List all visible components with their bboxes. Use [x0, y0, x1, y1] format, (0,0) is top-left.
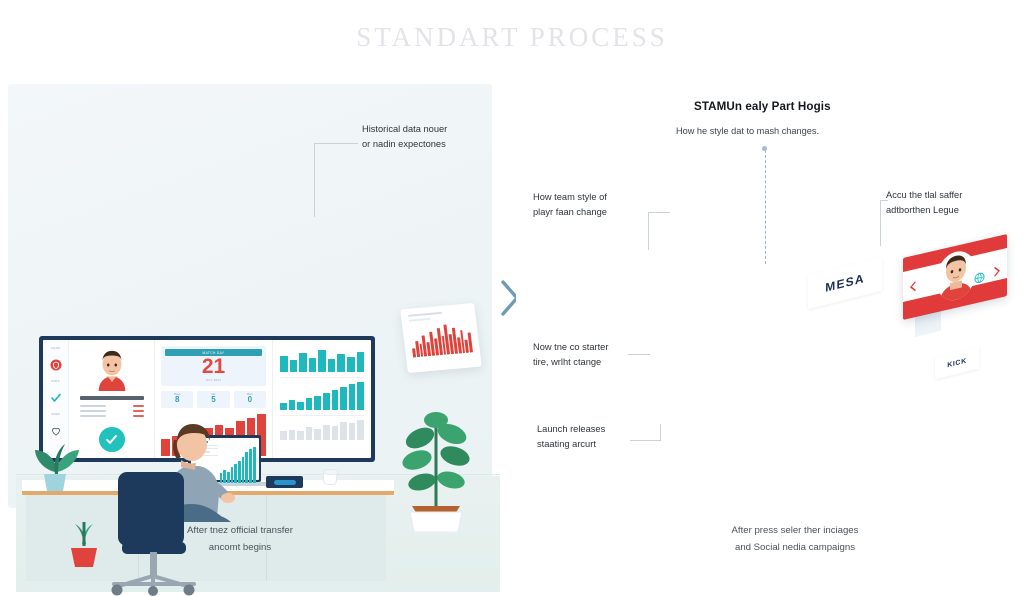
profile-name-placeholder [80, 396, 144, 399]
desk-plant [26, 436, 84, 492]
floating-chart-card [400, 303, 482, 373]
chart-bar [253, 447, 256, 483]
chevron-left-icon [909, 281, 917, 293]
annotation-accu-line2: adtborthen Legue [886, 203, 996, 218]
stat-box: Plays 8 [161, 391, 193, 408]
stadium-banner-text: MESA [825, 271, 864, 295]
connector-dot [762, 146, 767, 151]
tablet-device [266, 476, 303, 488]
caption-left-line2: ancomt begins [110, 540, 370, 557]
caption-right-line1: After press seler ther inciages [665, 523, 925, 540]
card-sub-placeholder [409, 318, 431, 322]
connector-dashed-line [765, 150, 766, 264]
page-title: STANDART PROCESS [0, 22, 1024, 53]
annotation-team-style-line2: playr faan change [533, 205, 645, 220]
rail-label-stats: STATS [52, 380, 60, 383]
stat-box: Gls 5 [197, 391, 229, 408]
check-circle-icon [104, 432, 119, 447]
chart-bar [318, 350, 326, 372]
chart-bar [332, 390, 339, 410]
chart-bar [297, 402, 304, 410]
chart-bar [314, 429, 321, 440]
chart-bar [332, 426, 339, 440]
profile-stat-row [80, 405, 144, 407]
annotation-launch-line1: Launch releases [537, 422, 649, 437]
caption-left-line1: After tnez official transfer [110, 523, 370, 540]
chart-bar [309, 358, 317, 372]
chart-bar [323, 393, 330, 410]
chart-divider [280, 415, 364, 416]
stat-value: 8 [161, 396, 193, 405]
verified-check-badge [99, 427, 125, 452]
shield-icon [50, 359, 62, 371]
caption-right: After press seler ther inciages and Soci… [665, 523, 925, 557]
match-day-card: MATCH DAY 21 OCT 2024 [161, 346, 266, 386]
chart-bar [349, 384, 356, 410]
annotation-now-starter: Now tne co starter tire, wrlht ctange [533, 340, 645, 370]
chart-bar [280, 431, 287, 440]
coffee-cup [323, 470, 337, 485]
teal-bar-chart-top [280, 350, 364, 372]
chart-bar [323, 425, 330, 440]
annotation-historical-line2: or nadin expectones [362, 137, 512, 152]
connector-line [880, 200, 881, 246]
match-day-subtitle: OCT 2024 [165, 378, 262, 382]
chart-bar [289, 430, 296, 440]
chart-bar [289, 400, 296, 410]
floor-plant-large [400, 402, 472, 534]
gray-bar-chart [280, 420, 364, 440]
scoreboard-text: KICK [947, 357, 967, 369]
chart-bar [340, 422, 347, 440]
match-day-header-label: MATCH DAY [203, 351, 225, 355]
chart-bar [347, 357, 355, 372]
annotation-accu-line1: Accu the tlal saffer [886, 188, 996, 203]
player-avatar [90, 348, 134, 391]
stat-value: 0 [234, 396, 266, 405]
annotation-historical: Historical data nouer or nadin expectone… [362, 122, 512, 152]
profile-stat-row [80, 415, 144, 417]
rail-label-squad: SQUAD [51, 347, 60, 350]
profile-stat-rows [80, 405, 144, 421]
connector-line [660, 424, 661, 441]
connector-line [630, 440, 660, 441]
chart-bar [328, 359, 336, 372]
chart-bar [280, 356, 288, 372]
annotation-now-starter-line2: tire, wrlht ctange [533, 355, 645, 370]
connector-line [648, 212, 670, 213]
annotation-now-starter-line1: Now tne co starter [533, 340, 645, 355]
dashboard-side-charts [273, 340, 371, 458]
chart-bar [340, 387, 347, 410]
chart-bar [290, 360, 298, 372]
stat-value: 5 [197, 396, 229, 405]
teal-bar-chart-mid [280, 382, 364, 410]
caption-right-line2: and Social nedia campaigns [665, 540, 925, 557]
stat-box: Mins 0 [234, 391, 266, 408]
annotation-accu: Accu the tlal saffer adtborthen Legue [886, 188, 996, 218]
chart-bar [299, 353, 307, 372]
annotation-subheading: How he style dat to mash changes. [676, 126, 926, 136]
chart-bar [306, 427, 313, 440]
stat-box-row: Plays 8 Gls 5 Mins 0 [161, 391, 266, 408]
annotation-team-style: How team style of playr faan change [533, 190, 645, 220]
annotation-historical-line1: Historical data nouer [362, 122, 512, 137]
chart-bar [314, 396, 321, 410]
check-icon [50, 392, 62, 404]
connector-line [628, 354, 650, 355]
infographic-stage: STANDART PROCESS SQUAD STATS [0, 0, 1024, 585]
tv-player-portrait [936, 247, 976, 304]
card-title-placeholder [408, 312, 442, 317]
annotation-heading: STAMUn ealy Part Hogis [694, 100, 894, 113]
portrait-avatar [936, 247, 976, 304]
annotation-launch: Launch releases staating arcurt [537, 422, 649, 452]
floating-card-bars [409, 322, 472, 357]
match-day-number: 21 [165, 356, 262, 378]
connector-line [648, 212, 649, 250]
connector-line [314, 143, 358, 144]
chart-bar [297, 431, 304, 440]
chart-bar [357, 382, 364, 410]
connector-line [880, 200, 888, 201]
chart-bar [337, 354, 345, 372]
floor-plant-small [64, 516, 104, 568]
chart-bar [349, 423, 356, 440]
chart-divider [280, 377, 364, 378]
chart-bar [249, 449, 252, 482]
chart-bar [357, 420, 364, 440]
annotation-team-style-line1: How team style of [533, 190, 645, 205]
connector-line [314, 143, 315, 217]
chart-bar [357, 352, 365, 372]
chart-bar [306, 398, 313, 410]
chevron-right-nav-icon [993, 265, 1001, 277]
caption-left: After tnez official transfer ancomt begi… [110, 523, 370, 557]
rail-label-saved: SAVED [51, 413, 60, 416]
profile-stat-row [80, 410, 144, 412]
chart-bar [280, 403, 287, 410]
